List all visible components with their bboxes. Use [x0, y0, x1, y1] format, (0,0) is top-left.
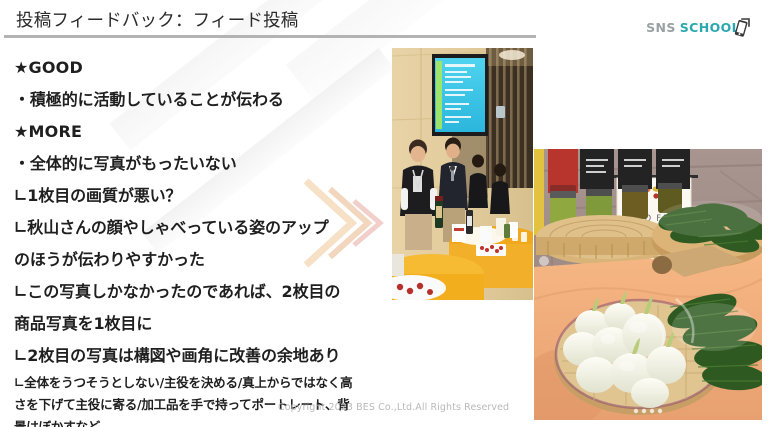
- feedback-line: のほうが伝わりやすかった: [14, 244, 394, 276]
- market-produce-photo: ZERO FARM ゼロファーム: [533, 148, 762, 420]
- title-underline: [4, 35, 536, 38]
- event-presentation-photo: [392, 48, 533, 300]
- feedback-list: ★GOOD ・積極的に活動していることが伝わる ★MORE ・全体的に写真がもっ…: [14, 52, 394, 427]
- slide-canvas: 投稿フィードバック：フィード投稿 SNS SCHOOL ★GOOD ・積極的に活…: [0, 0, 768, 427]
- feedback-line: 景はぼかすなど: [14, 416, 394, 427]
- feedback-line: ∟この写真しかなかったのであれば、2枚目の: [14, 276, 394, 308]
- feedback-line: ★GOOD: [14, 52, 394, 84]
- feedback-line: ∟2枚目の写真は構図や画角に改善の余地あり: [14, 340, 394, 372]
- phone-arrow-icon: [733, 18, 750, 38]
- feedback-line: ∟1枚目の画質が悪い？: [14, 180, 394, 212]
- feedback-line: ∟秋山さんの顔やしゃべっている姿のアップ: [14, 212, 394, 244]
- feedback-line: ∟全体をうつそうとしない/主役を決める/真上からではなく高: [14, 372, 394, 394]
- feedback-line: 商品写真を1枚目に: [14, 308, 394, 340]
- feedback-line: ・全体的に写真がもったいない: [14, 148, 394, 180]
- logo-text-primary: SNS: [646, 20, 676, 35]
- brand-logo: SNS SCHOOL: [646, 18, 750, 36]
- copyright-text: Copyright 2023 BES Co.,Ltd.All Rights Re…: [278, 402, 509, 413]
- feedback-line: ・積極的に活動していることが伝わる: [14, 84, 394, 116]
- page-title: 投稿フィードバック：フィード投稿: [16, 7, 299, 32]
- feedback-line: ★MORE: [14, 116, 394, 148]
- logo-text-secondary: SCHOOL: [680, 20, 740, 35]
